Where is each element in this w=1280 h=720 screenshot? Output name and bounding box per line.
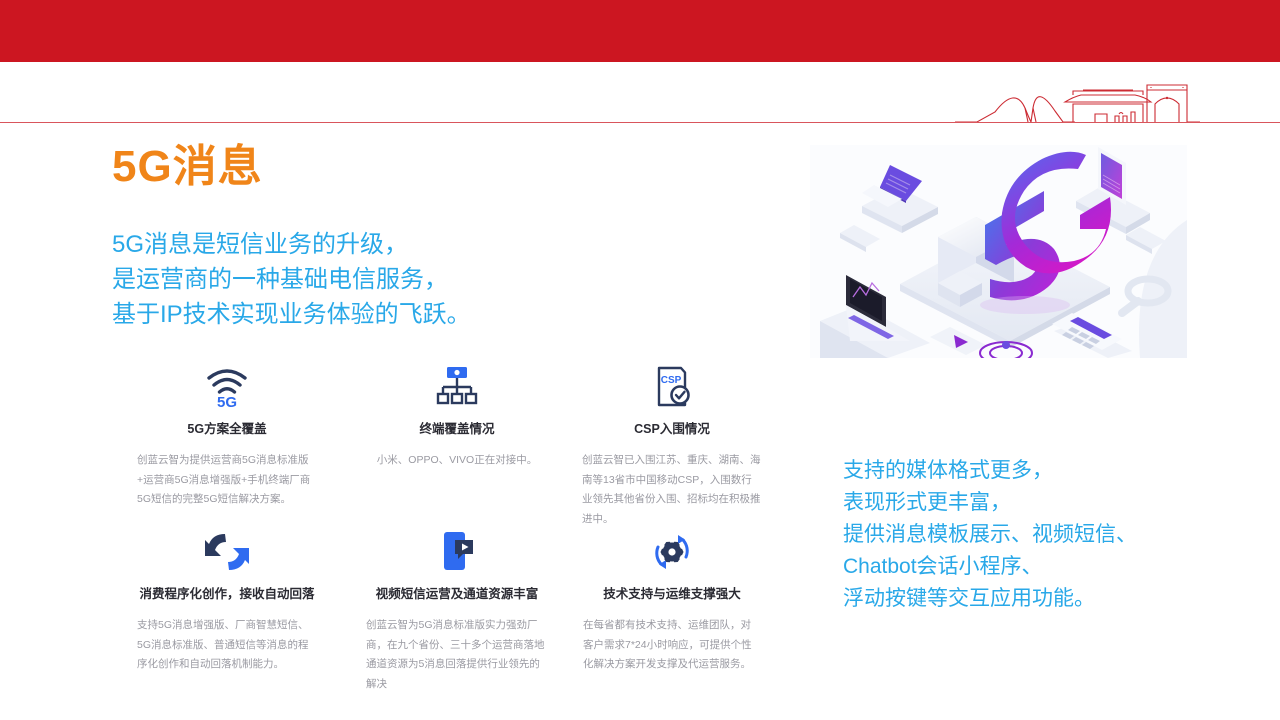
- document-check-icon: CSP: [651, 363, 693, 411]
- feature-desc: 支持5G消息增强版、厂商智慧短信、5G消息标准版、普通短信等消息的程序化创作和自…: [135, 616, 319, 674]
- subtitle-line-3: 基于IP技术实现业务体验的飞跃。: [112, 298, 752, 333]
- feature-desc: 创蓝云智为提供运营商5G消息标准版+运营商5G消息增强版+手机终端厂商5G短信的…: [135, 451, 319, 509]
- feature-item-5g-coverage: 5G 5G方案全覆盖 创蓝云智为提供运营商5G消息标准版+运营商5G消息增强版+…: [112, 363, 342, 528]
- subtitle-line-2: 是运营商的一种基础电信服务，: [112, 263, 752, 298]
- page-subtitle: 5G消息是短信业务的升级， 是运营商的一种基础电信服务， 基于IP技术实现业务体…: [112, 228, 752, 332]
- note-line-4: Chatbot会话小程序、: [843, 551, 1243, 583]
- features-grid: 5G 5G方案全覆盖 创蓝云智为提供运营商5G消息标准版+运营商5G消息增强版+…: [112, 363, 772, 693]
- feature-item-programmatic-creation: 消费程序化创作，接收自动回落 支持5G消息增强版、厂商智慧短信、5G消息标准版、…: [112, 528, 342, 693]
- svg-text:5G: 5G: [217, 394, 237, 409]
- network-hierarchy-icon: [434, 363, 480, 411]
- exchange-arrows-icon: [204, 528, 250, 576]
- feature-title: 视频短信运营及通道资源丰富: [376, 586, 539, 602]
- feature-item-terminal-coverage: 终端覆盖情况 小米、OPPO、VIVO正在对接中。: [342, 363, 572, 528]
- top-red-banner: [0, 0, 1280, 62]
- feature-desc: 创蓝云智已入围江苏、重庆、湖南、海南等13省市中国移动CSP，入围数行业领先其他…: [580, 451, 764, 529]
- feature-desc: 小米、OPPO、VIVO正在对接中。: [360, 451, 554, 470]
- feature-title: 5G方案全覆盖: [187, 421, 266, 437]
- feature-item-video-sms: 视频短信运营及通道资源丰富 创蓝云智为5G消息标准版实力强劲厂商，在九个省份、三…: [342, 528, 572, 693]
- note-line-3: 提供消息模板展示、视频短信、: [843, 519, 1243, 551]
- feature-title: 消费程序化创作，接收自动回落: [139, 586, 314, 602]
- feature-title: 技术支持与运维支撑强大: [603, 586, 741, 602]
- feature-item-technical-support: 技术支持与运维支撑强大 在每省都有技术支持、运维团队，对客户需求7*24小时响应…: [572, 528, 772, 693]
- feature-desc: 创蓝云智为5G消息标准版实力强劲厂商，在九个省份、三十多个运营商落地通道资源为5…: [364, 616, 550, 694]
- gear-refresh-icon: [650, 528, 694, 576]
- feature-title: CSP入围情况: [634, 421, 710, 437]
- media-format-note: 支持的媒体格式更多， 表现形式更丰富， 提供消息模板展示、视频短信、 Chatb…: [843, 455, 1243, 615]
- note-line-2: 表现形式更丰富，: [843, 487, 1243, 519]
- note-line-5: 浮动按键等交互应用功能。: [843, 583, 1243, 615]
- feature-title: 终端覆盖情况: [419, 421, 494, 437]
- city-skyline-line-art-icon: [955, 78, 1200, 123]
- hero-illustration-5g: [810, 145, 1187, 358]
- svg-text:CSP: CSP: [661, 375, 682, 386]
- header-divider: [0, 122, 1280, 123]
- phone-video-icon: [435, 528, 479, 576]
- wifi-5g-icon: 5G: [204, 363, 250, 411]
- subtitle-line-1: 5G消息是短信业务的升级，: [112, 228, 752, 263]
- feature-desc: 在每省都有技术支持、运维团队，对客户需求7*24小时响应，可提供个性化解决方案开…: [581, 616, 763, 674]
- page-title: 5G消息: [112, 142, 263, 193]
- note-line-1: 支持的媒体格式更多，: [843, 455, 1243, 487]
- feature-item-csp-shortlist: CSP CSP入围情况 创蓝云智已入围江苏、重庆、湖南、海南等13省市中国移动C…: [572, 363, 772, 528]
- slide-root: 5G消息 5G消息是短信业务的升级， 是运营商的一种基础电信服务， 基于IP技术…: [0, 0, 1280, 720]
